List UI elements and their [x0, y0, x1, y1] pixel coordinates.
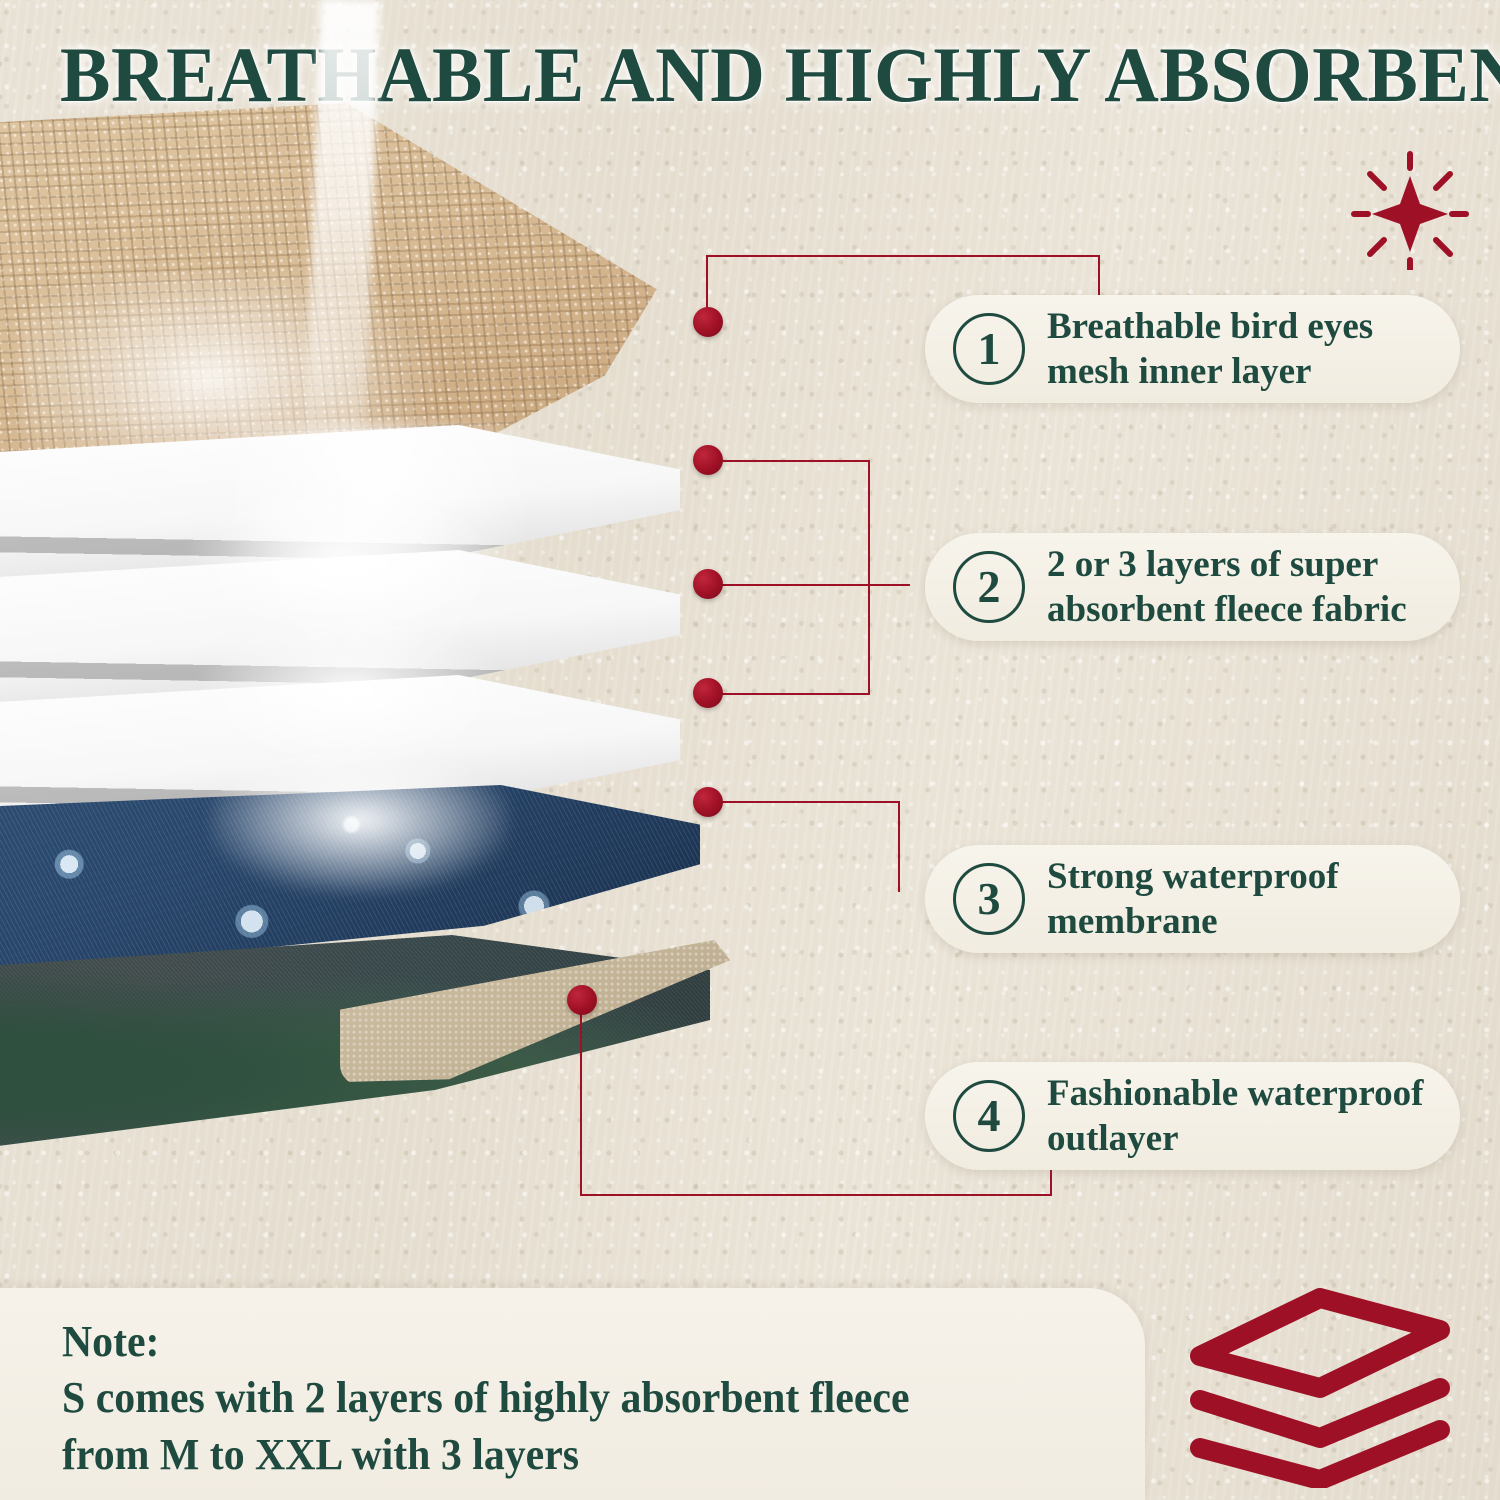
callout-3-line-2: membrane [1047, 899, 1339, 944]
callout-1[interactable]: 1 Breathable bird eyes mesh inner layer [925, 295, 1460, 403]
connector-4-horizontal [580, 1194, 1052, 1196]
callout-3-text: Strong waterproof membrane [1047, 854, 1339, 944]
connector-2-branch-c [708, 693, 870, 695]
callout-2-line-2: absorbent fleece fabric [1047, 587, 1407, 632]
callout-4[interactable]: 4 Fashionable waterproof outlayer [925, 1062, 1460, 1170]
callout-dot-2b [693, 569, 723, 599]
callout-dot-2a [693, 445, 723, 475]
callout-2-line-1: 2 or 3 layers of super [1047, 542, 1407, 587]
connector-4-vertical-left [580, 1000, 582, 1196]
callout-1-line-2: mesh inner layer [1047, 349, 1373, 394]
connector-3-horizontal [708, 801, 900, 803]
infographic-canvas: BREATHABLE AND HIGHLY ABSORBENT [0, 0, 1500, 1500]
callout-dot-2c [693, 678, 723, 708]
callout-3-number: 3 [953, 863, 1025, 935]
note-line-1: S comes with 2 layers of highly absorben… [62, 1370, 1050, 1426]
note-text: Note: S comes with 2 layers of highly ab… [62, 1314, 1050, 1483]
sparkle-icon [1350, 150, 1470, 270]
connector-2-spine [868, 460, 870, 694]
callout-1-text: Breathable bird eyes mesh inner layer [1047, 304, 1373, 394]
callout-3[interactable]: 3 Strong waterproof membrane [925, 845, 1460, 953]
note-line-2: from M to XXL with 3 layers [62, 1427, 1050, 1483]
callout-1-line-1: Breathable bird eyes [1047, 304, 1373, 349]
connector-2-branch-a [708, 460, 870, 462]
connector-1-vertical-right [1098, 255, 1100, 300]
callout-dot-1 [693, 307, 723, 337]
connector-3-vertical [898, 801, 900, 892]
connector-1-horizontal [706, 255, 1100, 257]
callout-4-number: 4 [953, 1080, 1025, 1152]
callout-3-line-1: Strong waterproof [1047, 854, 1339, 899]
note-panel: Note: S comes with 2 layers of highly ab… [0, 1288, 1145, 1500]
layers-stack-icon [1188, 1288, 1453, 1488]
callout-2[interactable]: 2 2 or 3 layers of super absorbent fleec… [925, 533, 1460, 641]
callout-dot-4 [567, 985, 597, 1015]
water-mist [200, 615, 500, 765]
note-heading: Note: [62, 1314, 1050, 1370]
water-mist [190, 485, 490, 635]
callout-2-text: 2 or 3 layers of super absorbent fleece … [1047, 542, 1407, 632]
callout-dot-3 [693, 787, 723, 817]
callout-1-number: 1 [953, 313, 1025, 385]
water-mist [210, 745, 510, 895]
connector-4-vertical-right [1050, 1168, 1052, 1196]
connector-2-branch-b [708, 584, 910, 586]
fabric-layer-stack-illustration [0, 95, 840, 1215]
callout-4-line-1: Fashionable waterproof [1047, 1071, 1424, 1116]
callout-4-line-2: outlayer [1047, 1116, 1424, 1161]
callout-2-number: 2 [953, 551, 1025, 623]
callout-4-text: Fashionable waterproof outlayer [1047, 1071, 1424, 1161]
